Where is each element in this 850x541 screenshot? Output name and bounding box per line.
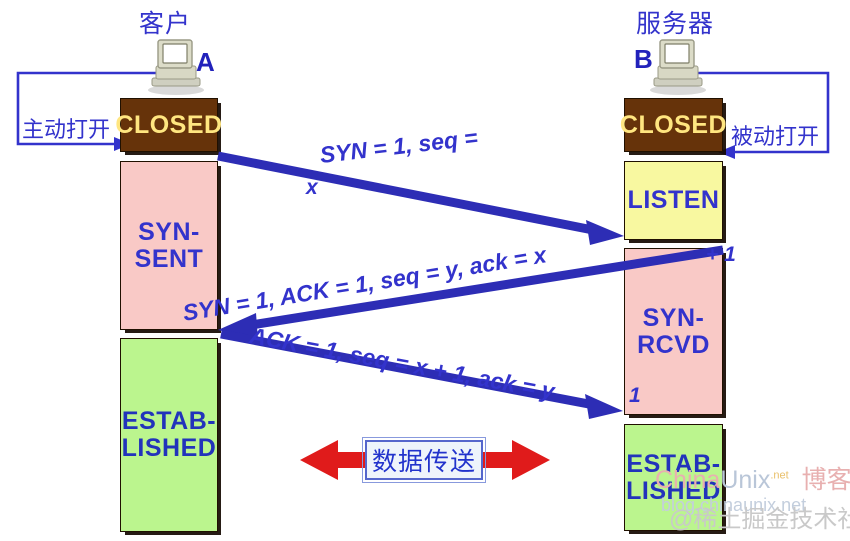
segment-syn-ack-tail: + 1 [706, 243, 736, 267]
watermark-chinaunix-prefix: China [655, 466, 720, 494]
watermark-chinaunix-suffix: Unix [720, 466, 770, 494]
watermark-juejin: @稀土掘金技术社区 [669, 499, 850, 534]
data-transfer-label: 数据传送 [372, 442, 476, 478]
watermark-chinaunix-blog: 博客 [802, 466, 850, 494]
segment-ack-tail: 1 [629, 384, 641, 408]
data-transfer-box: 数据传送 [365, 440, 483, 480]
watermark-chinaunix-sup: .net [770, 470, 788, 482]
watermark-chinaunix: ChinaUnix.net 博客 [655, 460, 850, 496]
tcp-handshake-diagram: 客户 A 主动打开 CLOSED SYN- SENT ESTAB- LISHED… [0, 0, 850, 541]
arrow-syn [218, 156, 624, 245]
segment-syn-tail: x [306, 176, 318, 200]
